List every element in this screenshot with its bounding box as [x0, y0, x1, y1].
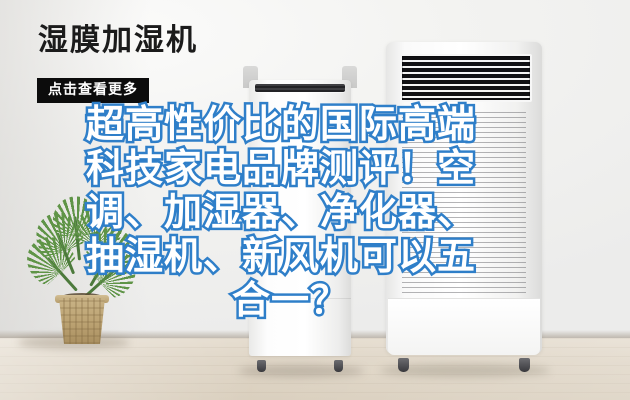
headline-line-5: 合一？ [86, 278, 556, 322]
view-more-badge[interactable]: 点击查看更多 [37, 78, 149, 103]
air-purifier-caster [398, 358, 409, 372]
headline-line-4: 抽湿机、新风机可以五 [86, 234, 556, 278]
dehumidifier-top-vent [255, 84, 345, 92]
page-title: 湿膜加湿机 [38, 26, 198, 56]
palm-frond [46, 257, 78, 292]
air-purifier-caster [519, 358, 530, 372]
promo-banner: 湿膜加湿机 点击查看更多 超高性价比的国际高端 科技家电品牌测评！空 调、加湿器… [0, 0, 630, 400]
headline-line-1: 超高性价比的国际高端 [86, 102, 556, 146]
headline-overlay: 超高性价比的国际高端 科技家电品牌测评！空 调、加湿器、净化器、 抽湿机、新风机… [86, 102, 556, 322]
dehumidifier-caster [257, 360, 266, 372]
dehumidifier-caster [334, 360, 343, 372]
headline-line-3: 调、加湿器、净化器、 [86, 190, 556, 234]
air-purifier-louver-grille [400, 54, 532, 102]
headline-line-2: 科技家电品牌测评！空 [86, 146, 556, 190]
